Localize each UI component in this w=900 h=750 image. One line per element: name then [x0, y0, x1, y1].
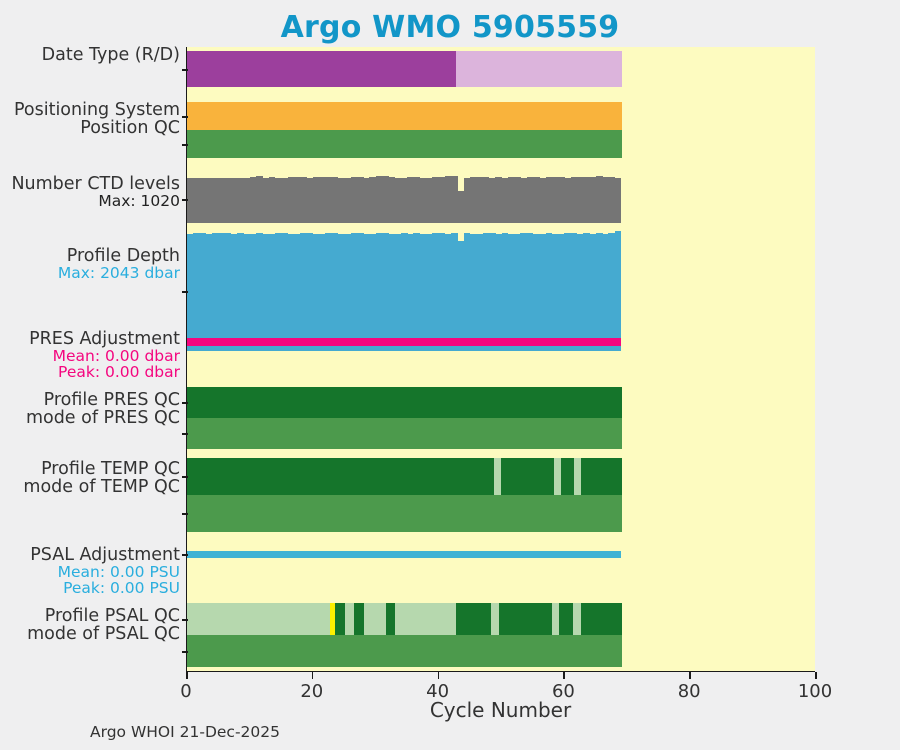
- track-pres-adjustment: [187, 338, 815, 346]
- qc-segment: [499, 603, 552, 635]
- row-label-line: Position QC: [14, 120, 180, 138]
- y-tick: [182, 199, 188, 201]
- row-label-line: Peak: 0.00 dbar: [29, 365, 180, 381]
- qc-segment: [187, 458, 494, 495]
- y-tick: [182, 476, 188, 478]
- qc-segment: [554, 458, 561, 495]
- argo-float-summary-figure: Argo WMO 5905559 Date Type (R/D)Position…: [0, 0, 900, 750]
- row-label-line: Peak: 0.00 PSU: [30, 581, 180, 597]
- track-profile-psal-qc: [187, 603, 815, 635]
- row-label-number-ctd-levels: Number CTD levelsMax: 1020: [11, 176, 186, 210]
- x-tick: [815, 672, 817, 679]
- row-label-line: mode of PRES QC: [26, 410, 180, 428]
- qc-segment: [187, 603, 330, 635]
- y-tick: [182, 144, 188, 146]
- bar: [615, 178, 622, 223]
- qc-segment: [559, 603, 573, 635]
- y-tick: [182, 554, 188, 556]
- track-profile-pres-qc: [187, 387, 815, 418]
- qc-segment: [187, 102, 622, 130]
- page-title: Argo WMO 5905559: [0, 10, 900, 45]
- qc-segment: [187, 387, 622, 418]
- y-tick: [182, 69, 188, 71]
- qc-segment: [494, 458, 501, 495]
- adjustment-line: [187, 338, 621, 346]
- track-position-qc: [187, 130, 815, 158]
- qc-segment: [561, 458, 575, 495]
- row-label-profile-pres-qc: Profile PRES QCmode of PRES QC: [26, 392, 186, 428]
- x-tick: [563, 672, 565, 679]
- row-label-line: Max: 1020: [11, 194, 180, 210]
- y-tick: [182, 402, 188, 404]
- qc-segment: [581, 603, 623, 635]
- qc-segment: [581, 458, 622, 495]
- row-label-line: mode of TEMP QC: [23, 479, 180, 497]
- qc-segment: [395, 603, 456, 635]
- row-label-line: mode of PSAL QC: [27, 626, 180, 644]
- x-tick: [312, 672, 314, 679]
- row-label-line: Max: 2043 dbar: [58, 266, 180, 282]
- x-tick: [689, 672, 691, 679]
- adjustment-line: [187, 551, 621, 558]
- y-tick: [182, 433, 188, 435]
- y-tick: [182, 619, 188, 621]
- x-tick: [438, 672, 440, 679]
- qc-segment: [187, 495, 622, 532]
- track-profile-temp-qc: [187, 458, 815, 495]
- track-mode-of-temp-qc: [187, 495, 815, 532]
- track-number-ctd-levels: [187, 176, 815, 223]
- row-label-line: Date Type (R/D): [42, 47, 180, 65]
- y-tick: [182, 513, 188, 515]
- track-psal-adjustment: [187, 551, 815, 558]
- qc-segment: [187, 130, 622, 158]
- row-label-psal-adjustment: PSAL AdjustmentMean: 0.00 PSUPeak: 0.00 …: [30, 547, 186, 596]
- qc-segment: [456, 51, 623, 87]
- row-label-profile-depth: Profile DepthMax: 2043 dbar: [58, 248, 186, 282]
- row-label-pres-adjustment: PRES AdjustmentMean: 0.00 dbarPeak: 0.00…: [29, 331, 186, 380]
- qc-segment: [501, 458, 554, 495]
- row-label-profile-psal-qc: Profile PSAL QCmode of PSAL QC: [27, 608, 186, 644]
- row-label-positioning-system: Positioning SystemPosition QC: [14, 102, 186, 138]
- row-label-date-type: Date Type (R/D): [42, 47, 186, 65]
- bar: [615, 231, 622, 351]
- track-mode-of-pres-qc: [187, 418, 815, 449]
- qc-segment: [345, 603, 354, 635]
- x-tick: [186, 672, 188, 679]
- x-axis-label: Cycle Number: [186, 698, 815, 722]
- qc-segment: [335, 603, 344, 635]
- track-profile-depth: [187, 231, 815, 351]
- qc-segment: [187, 635, 622, 667]
- y-tick: [182, 651, 188, 653]
- track-date-type-r-d: [187, 51, 815, 87]
- footer-credit: Argo WHOI 21-Dec-2025: [90, 723, 280, 741]
- qc-segment: [573, 603, 581, 635]
- qc-segment: [456, 603, 491, 635]
- qc-segment: [386, 603, 394, 635]
- y-tick: [182, 116, 188, 118]
- qc-segment: [552, 603, 560, 635]
- qc-segment: [187, 51, 456, 87]
- qc-segment: [364, 603, 387, 635]
- qc-segment: [491, 603, 499, 635]
- qc-segment: [574, 458, 581, 495]
- qc-segment: [354, 603, 363, 635]
- qc-segment: [187, 418, 622, 449]
- plot-area: [186, 47, 815, 672]
- row-label-profile-temp-qc: Profile TEMP QCmode of TEMP QC: [23, 461, 186, 497]
- y-tick: [182, 291, 188, 293]
- track-mode-of-psal-qc: [187, 635, 815, 667]
- plot-clip: [187, 47, 815, 671]
- track-positioning-system: [187, 102, 815, 130]
